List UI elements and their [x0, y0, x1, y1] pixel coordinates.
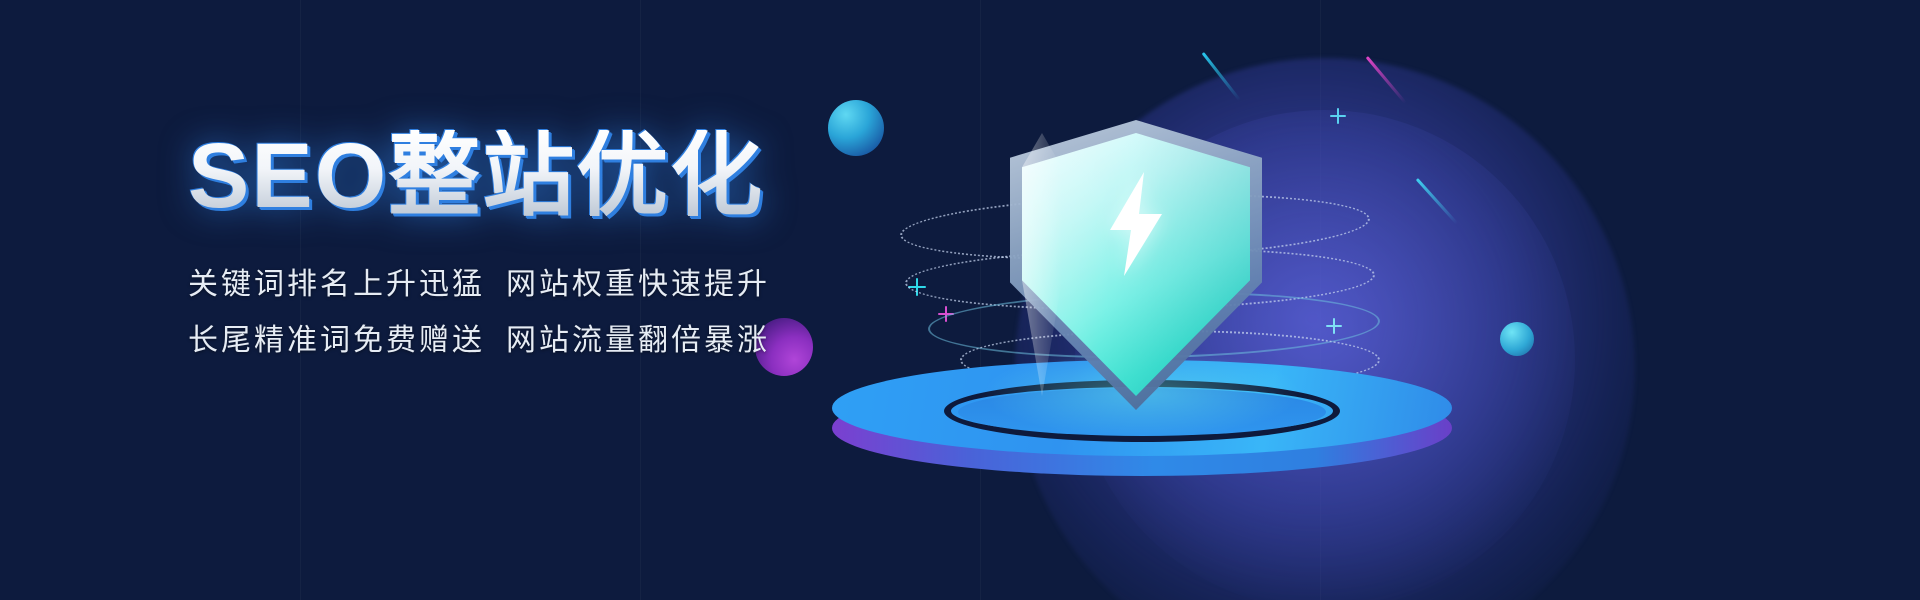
- shield-icon: [1010, 120, 1262, 410]
- feature-item-right: 网站流量翻倍暴涨: [506, 322, 770, 360]
- lightning-bolt-icon: [1104, 172, 1168, 276]
- cyan-plus-sparkle-icon: [1330, 108, 1346, 124]
- shield-highlight: [1022, 133, 1062, 396]
- blue-sphere-icon: [828, 100, 884, 156]
- feature-row: 关键词排名上升迅猛 网站权重快速提升: [188, 266, 808, 304]
- banner-copy: SEO整站优化 关键词排名上升迅猛 网站权重快速提升 长尾精准词免费赠送 网站流…: [188, 130, 808, 359]
- feature-row: 长尾精准词免费赠送 网站流量翻倍暴涨: [188, 322, 808, 360]
- teal-sphere-icon: [1500, 322, 1534, 356]
- feature-item-left: 长尾精准词免费赠送: [188, 322, 506, 360]
- feature-item-left: 关键词排名上升迅猛: [188, 266, 506, 304]
- feature-list: 关键词排名上升迅猛 网站权重快速提升 长尾精准词免费赠送 网站流量翻倍暴涨: [188, 266, 808, 359]
- feature-item-right: 网站权重快速提升: [506, 266, 770, 304]
- seo-promo-banner: SEO整站优化 关键词排名上升迅猛 网站权重快速提升 长尾精准词免费赠送 网站流…: [0, 0, 1920, 600]
- page-title: SEO整站优化: [188, 130, 808, 222]
